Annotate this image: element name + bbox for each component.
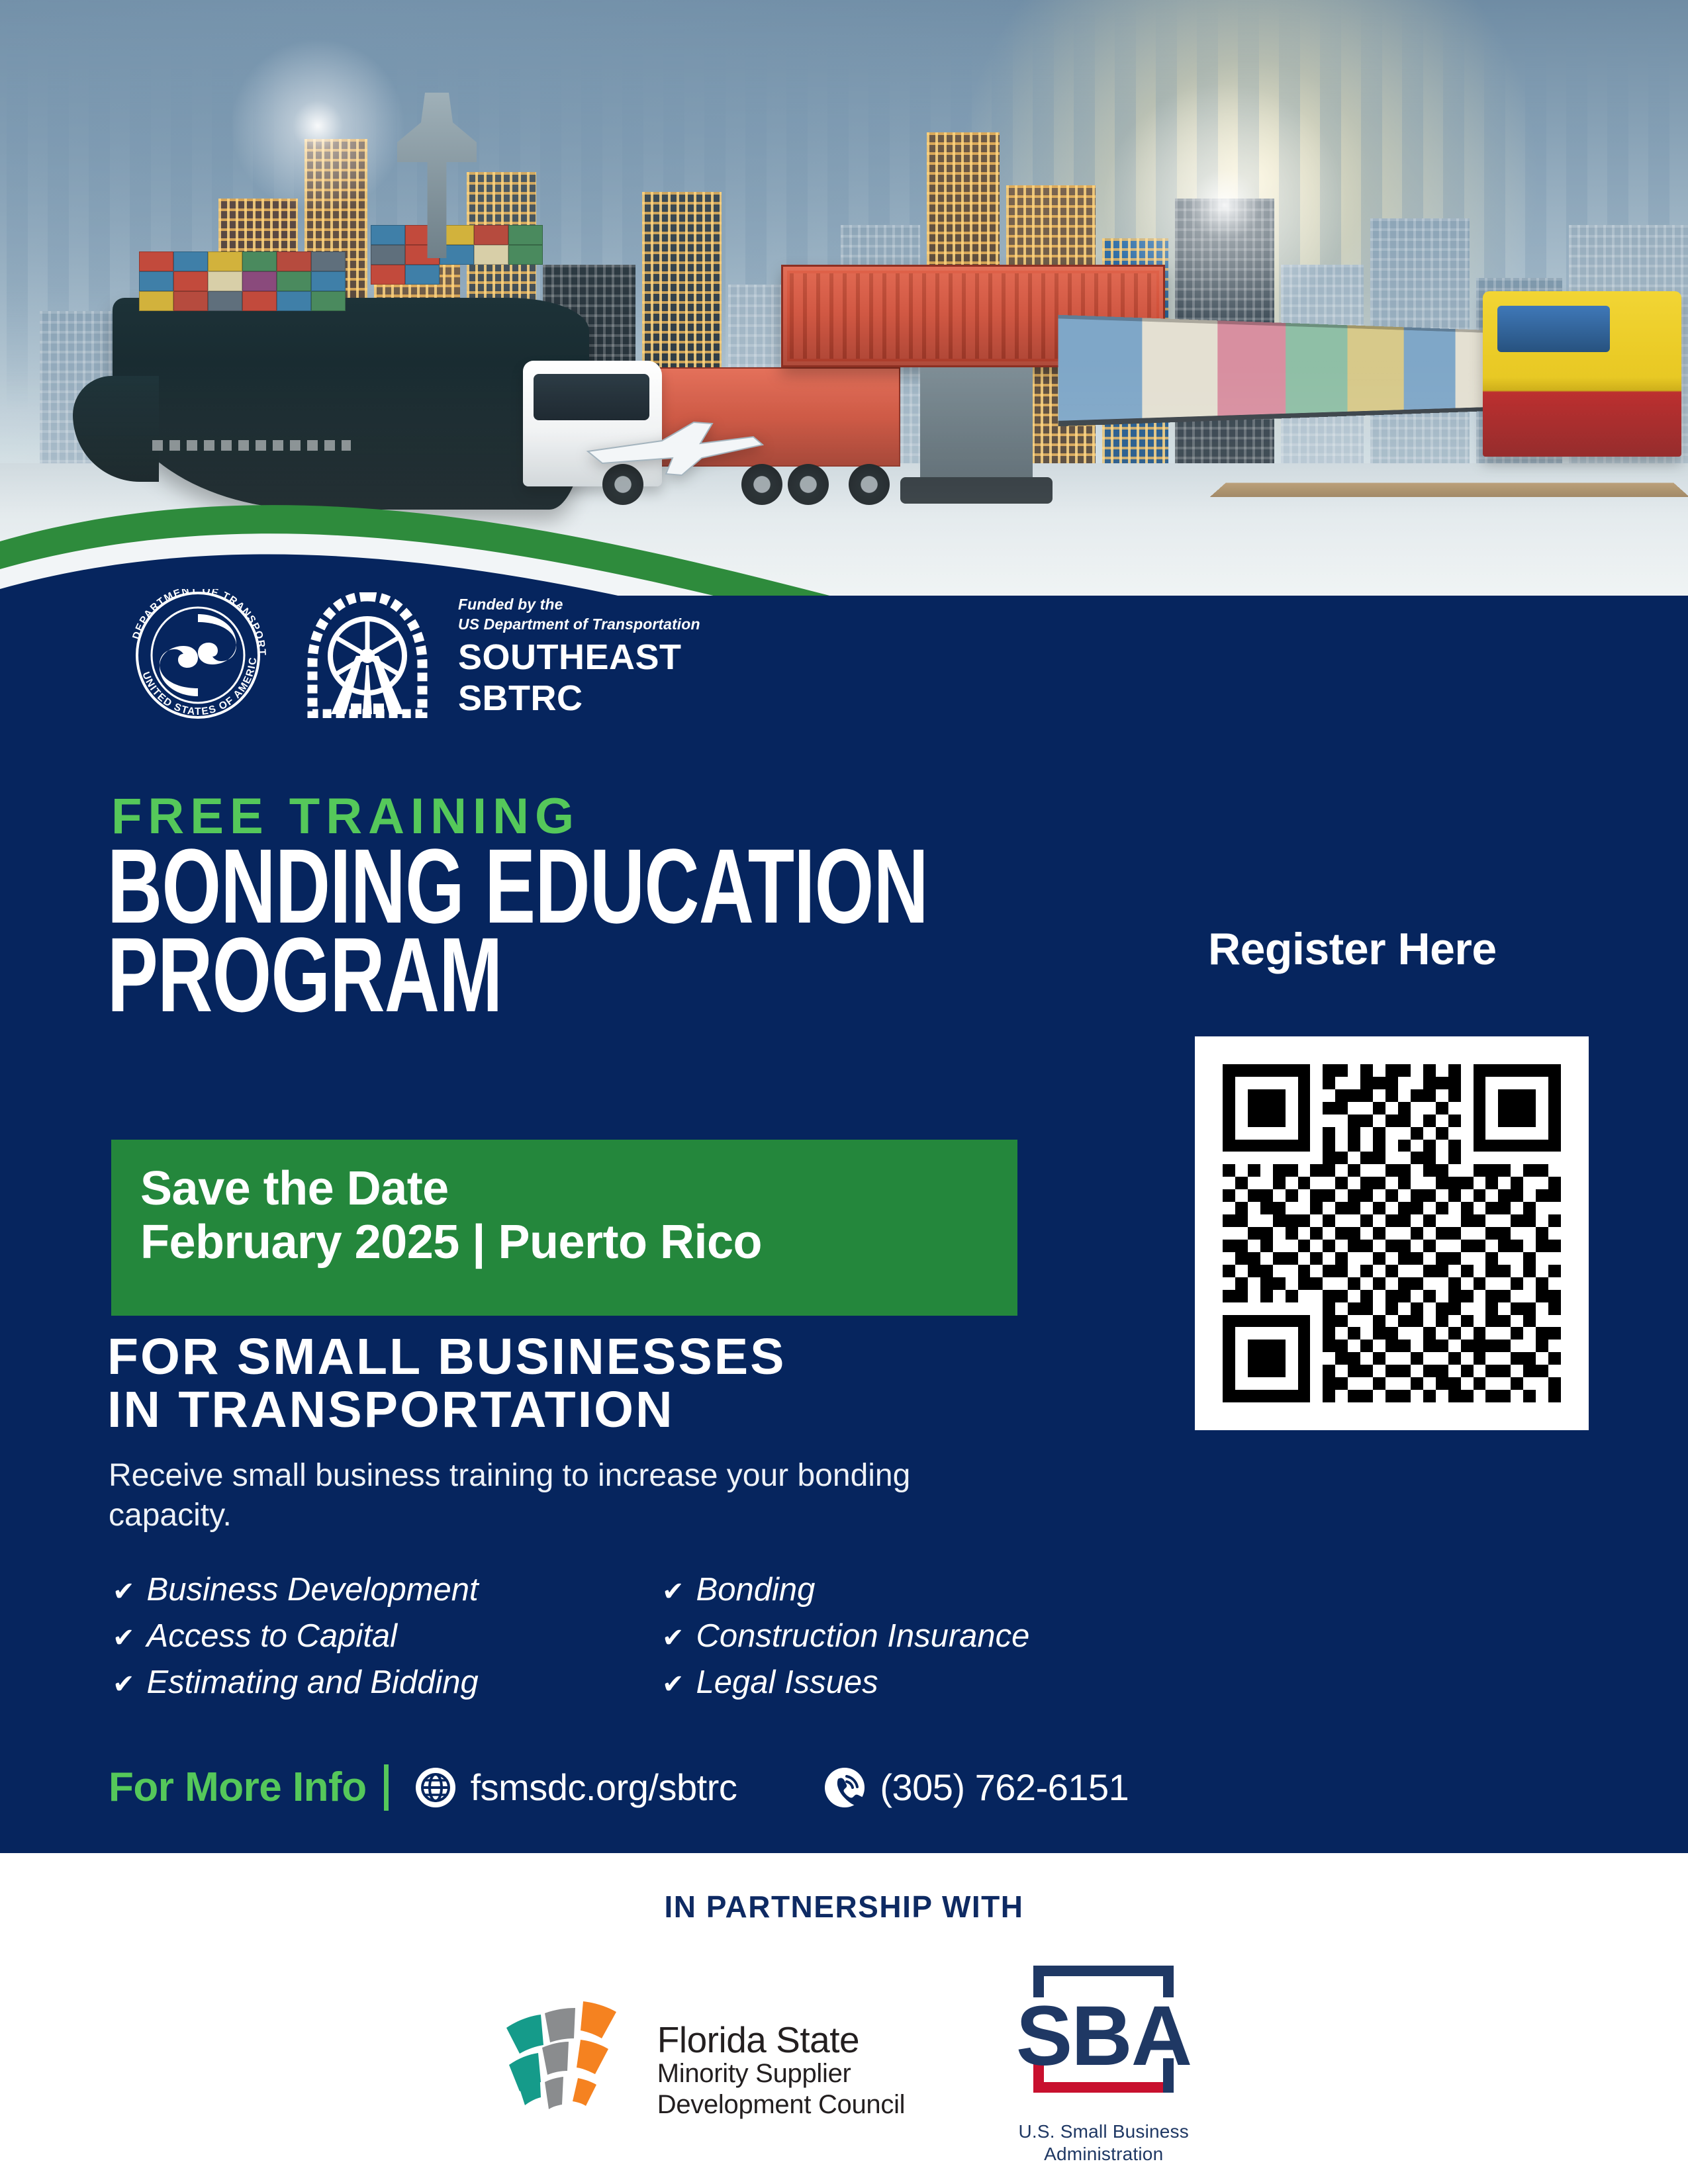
funded-line-1: Funded by the bbox=[458, 594, 700, 614]
list-item: ✔ Estimating and Bidding bbox=[113, 1666, 642, 1700]
list-item: ✔ Business Development bbox=[113, 1574, 642, 1607]
sba-logo: SBA U.S. Small Business Administration bbox=[1004, 1959, 1203, 2165]
website-contact[interactable]: fsmsdc.org/sbtrc bbox=[415, 1766, 737, 1809]
sbtrc-line-2: SBTRC bbox=[458, 680, 700, 716]
topic-label: Estimating and Bidding bbox=[147, 1666, 479, 1700]
sba-subtitle: U.S. Small Business Administration bbox=[1004, 2120, 1203, 2165]
qr-code[interactable] bbox=[1223, 1064, 1561, 1402]
phone-number: (305) 762-6151 bbox=[880, 1766, 1129, 1809]
check-icon: ✔ bbox=[113, 1625, 135, 1651]
list-item: ✔ Construction Insurance bbox=[662, 1620, 1258, 1653]
website-url: fsmsdc.org/sbtrc bbox=[471, 1766, 737, 1809]
audience-line-2: IN TRANSPORTATION bbox=[107, 1383, 1100, 1436]
svg-text:DEPARTMENT OF TRANSPORTATION: DEPARTMENT OF TRANSPORTATION bbox=[119, 589, 267, 656]
fsmsdc-line-2: Minority Supplier bbox=[657, 2058, 906, 2089]
check-icon: ✔ bbox=[662, 1671, 684, 1698]
sba-sub-line-1: U.S. Small Business bbox=[1004, 2120, 1203, 2143]
sbtrc-wordmark: Funded by the US Department of Transport… bbox=[458, 594, 700, 717]
fsmsdc-line-3: Development Council bbox=[657, 2089, 906, 2120]
topic-label: Legal Issues bbox=[696, 1666, 878, 1700]
phone-icon bbox=[824, 1767, 865, 1808]
dot-seal-top-text: DEPARTMENT OF TRANSPORTATION bbox=[119, 589, 267, 656]
sbtrc-wheel-road-icon bbox=[305, 592, 430, 718]
check-icon: ✔ bbox=[662, 1578, 684, 1605]
more-info-label: For More Info bbox=[109, 1764, 367, 1811]
partnership-heading: IN PARTNERSHIP WITH bbox=[0, 1889, 1688, 1925]
flyer-poster: DEPARTMENT OF TRANSPORTATION UNITED STAT… bbox=[0, 0, 1688, 2184]
fsmsdc-wordmark: Florida State Minority Supplier Developm… bbox=[657, 2022, 906, 2124]
audience-heading: FOR SMALL BUSINESSES IN TRANSPORTATION bbox=[107, 1330, 1100, 1436]
sbtrc-line-1: SOUTHEAST bbox=[458, 639, 700, 675]
divider bbox=[384, 1764, 389, 1811]
us-dot-seal-icon: DEPARTMENT OF TRANSPORTATION UNITED STAT… bbox=[119, 589, 277, 721]
fsmsdc-line-1: Florida State bbox=[657, 2022, 906, 2058]
check-icon: ✔ bbox=[662, 1625, 684, 1651]
list-item: ✔ Access to Capital bbox=[113, 1620, 642, 1653]
fsmsdc-fan-icon bbox=[485, 1959, 651, 2124]
more-info-row: For More Info fsmsdc.org/sbtrc (305) 762… bbox=[109, 1764, 1129, 1811]
qr-code-card[interactable] bbox=[1195, 1036, 1589, 1430]
check-icon: ✔ bbox=[113, 1671, 135, 1698]
globe-icon bbox=[415, 1767, 456, 1808]
agency-logo-row: DEPARTMENT OF TRANSPORTATION UNITED STAT… bbox=[119, 589, 700, 721]
topic-label: Bonding bbox=[696, 1574, 816, 1607]
footer-panel: IN PARTNERSHIP WITH bbox=[0, 1853, 1688, 2184]
partner-logos: Florida State Minority Supplier Developm… bbox=[0, 1959, 1688, 2165]
page-title: BONDING EDUCATION PROGRAM bbox=[107, 842, 798, 1020]
topic-label: Access to Capital bbox=[147, 1620, 398, 1653]
sba-mark-icon: SBA bbox=[1004, 1959, 1203, 2108]
list-item: ✔ Bonding bbox=[662, 1574, 1258, 1607]
topic-label: Construction Insurance bbox=[696, 1620, 1030, 1653]
lede-paragraph: Receive small business training to incre… bbox=[109, 1456, 1035, 1535]
topics-column-right: ✔ Bonding ✔ Construction Insurance ✔ Leg… bbox=[662, 1574, 1258, 1713]
sba-wordmark: SBA bbox=[1016, 1989, 1191, 2083]
fsmsdc-logo: Florida State Minority Supplier Developm… bbox=[485, 1959, 906, 2124]
save-the-date-box: Save the Date February 2025 | Puerto Ric… bbox=[111, 1140, 1017, 1316]
register-here-label: Register Here bbox=[1208, 923, 1497, 975]
topic-label: Business Development bbox=[147, 1574, 479, 1607]
list-item: ✔ Legal Issues bbox=[662, 1666, 1258, 1700]
save-the-date-line-1: Save the Date bbox=[140, 1162, 988, 1216]
audience-line-1: FOR SMALL BUSINESSES bbox=[107, 1330, 1100, 1383]
sba-sub-line-2: Administration bbox=[1004, 2143, 1203, 2165]
save-the-date-line-2: February 2025 | Puerto Rico bbox=[140, 1216, 988, 1269]
funded-line-2: US Department of Transportation bbox=[458, 614, 700, 634]
check-icon: ✔ bbox=[113, 1578, 135, 1605]
topics-column-left: ✔ Business Development ✔ Access to Capit… bbox=[113, 1574, 642, 1713]
phone-contact[interactable]: (305) 762-6151 bbox=[824, 1766, 1129, 1809]
